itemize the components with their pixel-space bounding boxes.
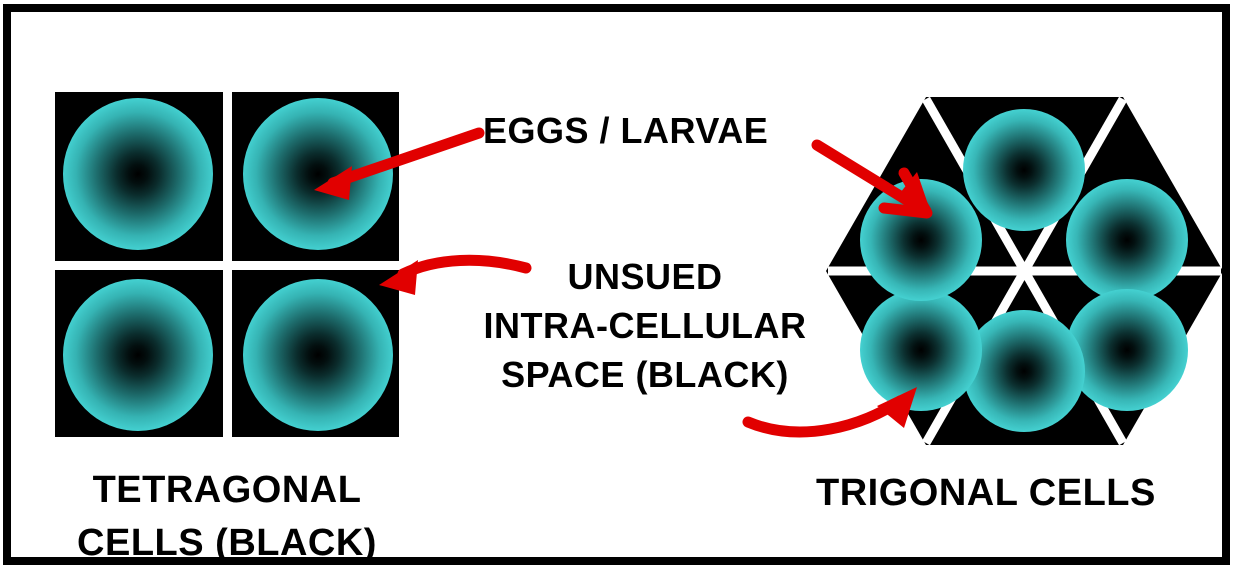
unused-space-label-line2: INTRA-CELLULAR — [484, 305, 807, 346]
trigonal-caption: TRIGONAL CELLS — [816, 472, 1156, 515]
egg-larva-icon — [860, 179, 982, 301]
tetragonal-cell-bottom-left — [55, 273, 219, 437]
tetragonal-cell-bottom-right — [235, 273, 399, 437]
tetragonal-caption-line2: CELLS (BLACK) — [77, 522, 377, 564]
egg-larva-icon — [243, 98, 393, 250]
egg-larva-icon — [243, 279, 393, 431]
egg-larva-icon — [963, 310, 1085, 432]
tetragonal-horizontal-divider — [55, 261, 399, 270]
tetragonal-cell-top-right — [235, 92, 399, 256]
egg-larva-icon — [63, 279, 213, 431]
unused-space-label: UNSUED INTRA-CELLULAR SPACE (BLACK) — [443, 252, 847, 399]
trigonal-cells-figure — [826, 97, 1223, 445]
unused-space-label-line1: UNSUED — [567, 256, 722, 297]
egg-larva-icon — [963, 109, 1085, 231]
egg-larva-icon — [1066, 179, 1188, 301]
unused-space-label-line3: SPACE (BLACK) — [501, 354, 789, 395]
tetragonal-caption-line1: TETRAGONAL — [93, 469, 362, 511]
egg-larva-icon — [1066, 289, 1188, 411]
egg-larva-icon — [63, 98, 213, 250]
tetragonal-caption: TETRAGONAL CELLS (BLACK) — [27, 464, 427, 570]
tetragonal-cells-figure — [55, 92, 399, 437]
eggs-larvae-label: EGGS / LARVAE — [483, 110, 768, 152]
egg-larva-icon — [860, 289, 982, 411]
tetragonal-cell-top-left — [55, 92, 219, 256]
diagram-canvas: EGGS / LARVAE UNSUED INTRA-CELLULAR SPAC… — [0, 0, 1239, 578]
outer-border-frame: EGGS / LARVAE UNSUED INTRA-CELLULAR SPAC… — [3, 4, 1230, 565]
